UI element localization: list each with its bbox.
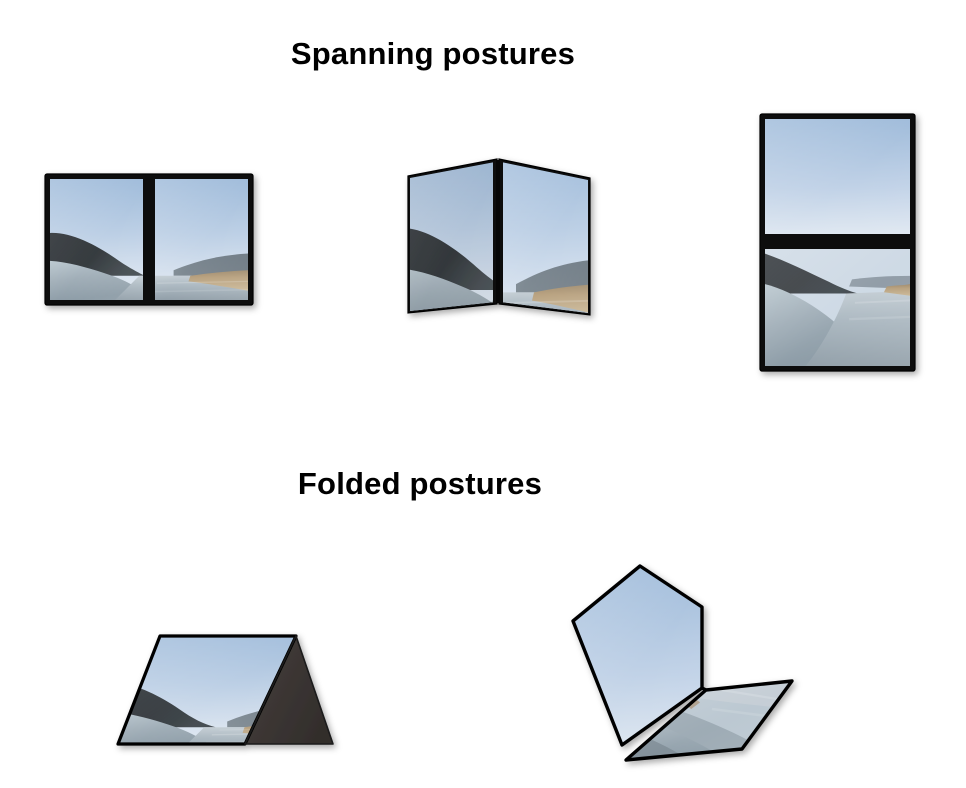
screen-sheen-left [50, 179, 143, 300]
figure-canvas: Spanning postures Folded postures [0, 0, 966, 788]
hinge [760, 234, 915, 249]
device-dual-screen-laptop[interactable] [565, 560, 798, 764]
hinge [143, 174, 155, 305]
postures-illustration [0, 0, 966, 788]
device-dual-screen-book[interactable] [400, 150, 596, 328]
hinge [702, 688, 706, 690]
device-dual-screen-flat-portrait[interactable] [760, 114, 915, 371]
screen-sheen-right [155, 179, 248, 300]
screen-sheen-top [765, 119, 910, 234]
device-dual-screen-tent[interactable] [112, 628, 333, 752]
screen-sheen-bottom [765, 249, 910, 366]
device-dual-screen-flat-landscape[interactable] [45, 174, 253, 305]
hinge [493, 160, 503, 303]
